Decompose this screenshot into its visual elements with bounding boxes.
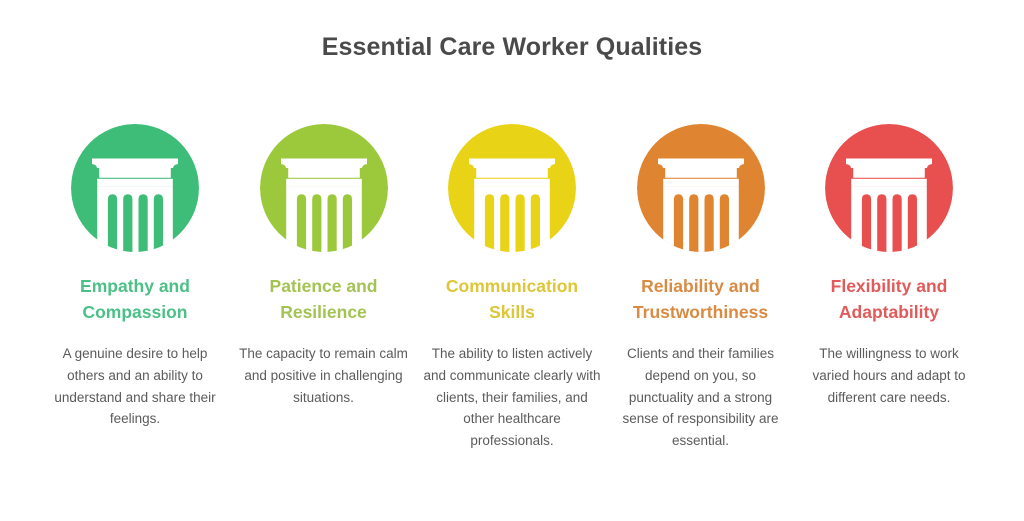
pillar-icon [825,124,953,252]
quality-card-reliability-and-trustworthiness: Reliability and Trustworthiness Clients … [614,124,788,452]
pillar-icon [637,124,765,252]
card-title: Flexibility and Adaptability [802,274,976,326]
card-title: Reliability and Trustworthiness [614,274,788,326]
card-description: Clients and their families depend on you… [614,343,788,452]
infographic-canvas: Essential Care Worker Qualities [0,0,1024,521]
pillar-icon [448,124,576,252]
card-title: Communication Skills [425,274,599,326]
quality-card-patience-and-resilience: Patience and Resilience The capacity to … [237,124,411,408]
quality-card-row: Empathy and Compassion A genuine desire … [48,124,976,452]
pillar-icon [260,124,388,252]
card-title: Patience and Resilience [237,274,411,326]
card-description: The capacity to remain calm and positive… [237,343,411,409]
card-description: A genuine desire to help others and an a… [48,343,222,430]
card-title: Empathy and Compassion [48,274,222,326]
quality-card-communication-skills: Communication Skills The ability to list… [425,124,599,452]
card-description: The willingness to work varied hours and… [802,343,976,409]
page-title: Essential Care Worker Qualities [0,33,1024,62]
quality-card-empathy-and-compassion: Empathy and Compassion A genuine desire … [48,124,222,430]
quality-card-flexibility-and-adaptability: Flexibility and Adaptability The willing… [802,124,976,408]
pillar-icon [71,124,199,252]
card-description: The ability to listen actively and commu… [422,343,602,452]
